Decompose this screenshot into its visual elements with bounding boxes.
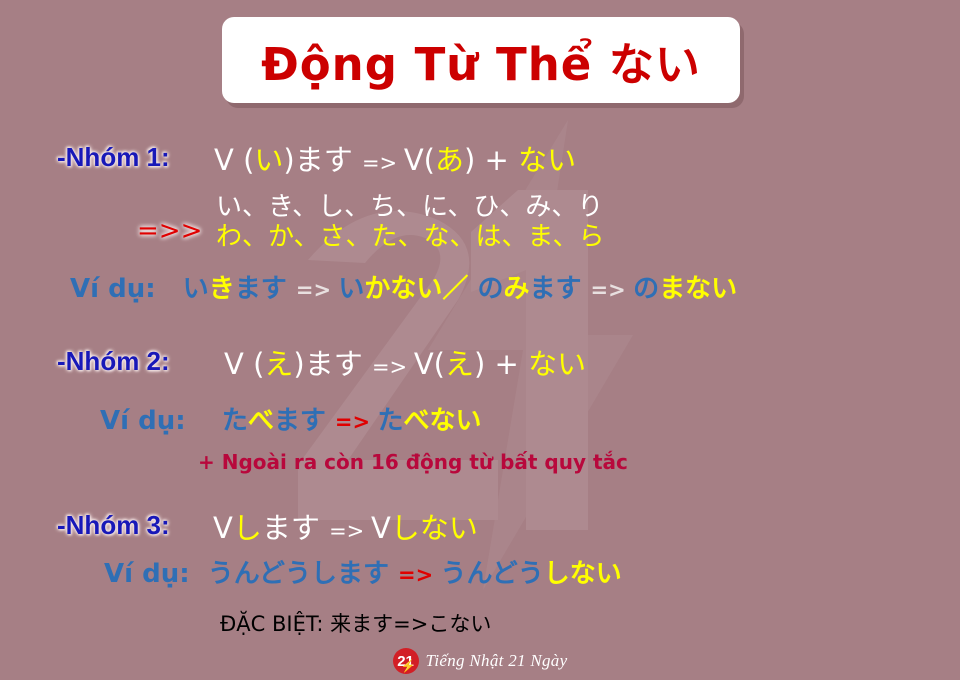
example-part: ます — [274, 406, 335, 436]
formula-part: )ます — [293, 347, 372, 381]
example-part: べ — [248, 406, 274, 436]
footer-branding: 21 ⚡ Tiếng Nhật 21 Ngày — [0, 648, 960, 674]
example-arrow: => — [335, 410, 378, 434]
example-part: ます — [235, 274, 296, 304]
formula-arrow: => — [372, 355, 414, 379]
example-part: しない — [544, 559, 622, 589]
example-part: た — [222, 406, 248, 436]
special-arrow: => — [393, 612, 428, 636]
formula-part: ない — [528, 347, 586, 381]
example-arrow: => — [296, 278, 339, 302]
special-from: 来ます — [330, 612, 393, 636]
example-arrow: => — [398, 563, 441, 587]
group-1-kana-target: わ、か、さ、た、な、は、ま、ら — [216, 216, 604, 253]
special-note: ĐẶC BIỆT: 来ます=>こない — [220, 608, 491, 638]
example-part: まない — [659, 274, 737, 304]
group-2-formula: V (え)ます => V(え) + ない — [224, 341, 586, 383]
example-label: Ví dụ: — [100, 406, 186, 436]
example-part: き — [209, 274, 235, 304]
title-box: Động Từ Thể ない — [222, 17, 740, 103]
brand-logo-icon: 21 ⚡ — [393, 648, 419, 674]
formula-part: あ — [435, 143, 464, 177]
group-3-label: -Nhóm 3: — [57, 510, 170, 541]
formula-part: V — [214, 143, 243, 177]
formula-part: い — [254, 143, 283, 177]
group-2-label: -Nhóm 2: — [57, 346, 170, 377]
lightning-bolt-icon: ⚡ — [401, 660, 416, 672]
irregular-verbs-note: + Ngoài ra còn 16 động từ bất quy tắc — [198, 450, 628, 474]
brand-name: Tiếng Nhật 21 Ngày — [426, 651, 568, 671]
example-part: うんどうします — [208, 559, 398, 589]
example-part: べない — [403, 406, 481, 436]
formula-part: ) + — [464, 143, 518, 177]
example-label: Ví dụ: — [70, 274, 156, 304]
group-1-label: -Nhóm 1: — [57, 142, 170, 173]
example-part: い — [338, 274, 364, 304]
group-3-formula: Vします => Vしない — [213, 505, 478, 547]
group-2-example: Ví dụ: たべます => たべない — [100, 400, 481, 437]
example-part: かない／ — [364, 274, 468, 304]
example-part: の — [468, 274, 503, 304]
formula-arrow: => — [329, 519, 371, 543]
formula-part: ない — [518, 143, 576, 177]
group-3-example: Ví dụ: うんどうします => うんどうしない — [104, 553, 622, 590]
example-part: の — [633, 274, 659, 304]
formula-part: え — [264, 347, 293, 381]
example-arrow: => — [591, 278, 634, 302]
example-part: ます — [529, 274, 590, 304]
special-to: こない — [428, 612, 491, 636]
group-1-example: Ví dụ: いきます => いかない／ のみます => のまない — [70, 268, 737, 305]
formula-part: ) + — [474, 347, 528, 381]
group-1-formula: V (い)ます => V(あ) + ない — [214, 137, 576, 179]
formula-part: )ます — [283, 143, 362, 177]
formula-part: し — [391, 511, 420, 545]
page-title: Động Từ Thể ない — [261, 28, 701, 93]
formula-arrow: => — [362, 151, 404, 175]
example-label: Ví dụ: — [104, 559, 190, 589]
formula-part: V( — [404, 143, 435, 177]
example-part: た — [377, 406, 403, 436]
formula-part: V — [371, 511, 391, 545]
formula-part: し — [233, 511, 262, 545]
formula-part: ます — [262, 511, 329, 545]
formula-part: V — [213, 511, 233, 545]
formula-part: ( — [253, 347, 264, 381]
example-part: うんどう — [441, 559, 544, 589]
group-1-transform-arrow: =>> — [137, 216, 202, 246]
formula-part: ない — [420, 511, 478, 545]
example-part: い — [183, 274, 209, 304]
example-part: み — [503, 274, 529, 304]
slide-canvas: Động Từ Thể ない -Nhóm 1: V (い)ます => V(あ) … — [0, 0, 960, 680]
formula-part: V — [224, 347, 253, 381]
formula-part: ( — [243, 143, 254, 177]
formula-part: V( — [414, 347, 445, 381]
special-label: ĐẶC BIỆT: — [220, 612, 323, 636]
formula-part: え — [445, 347, 474, 381]
